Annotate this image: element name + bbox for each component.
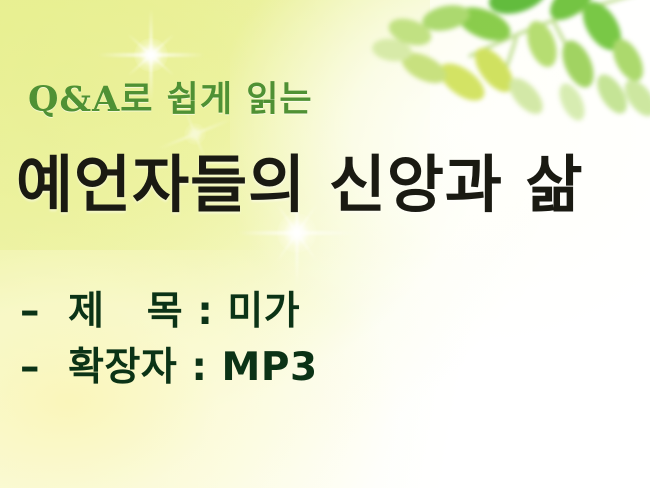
metadata-list: – 제 목 : 미가 – 확장자 : MP3 <box>20 284 318 396</box>
slide-subtitle: Q&A로 쉽게 읽는 <box>28 82 313 117</box>
metadata-line-title: – 제 목 : 미가 <box>20 284 318 340</box>
presentation-slide: Q&A로 쉽게 읽는 예언자들의 신앙과 삶 – 제 목 : 미가 – 확장자 … <box>0 0 650 488</box>
metadata-line-extension: – 확장자 : MP3 <box>20 340 318 396</box>
leafy-branch-icon <box>366 0 650 136</box>
slide-title: 예언자들의 신앙과 삶 <box>16 154 584 216</box>
